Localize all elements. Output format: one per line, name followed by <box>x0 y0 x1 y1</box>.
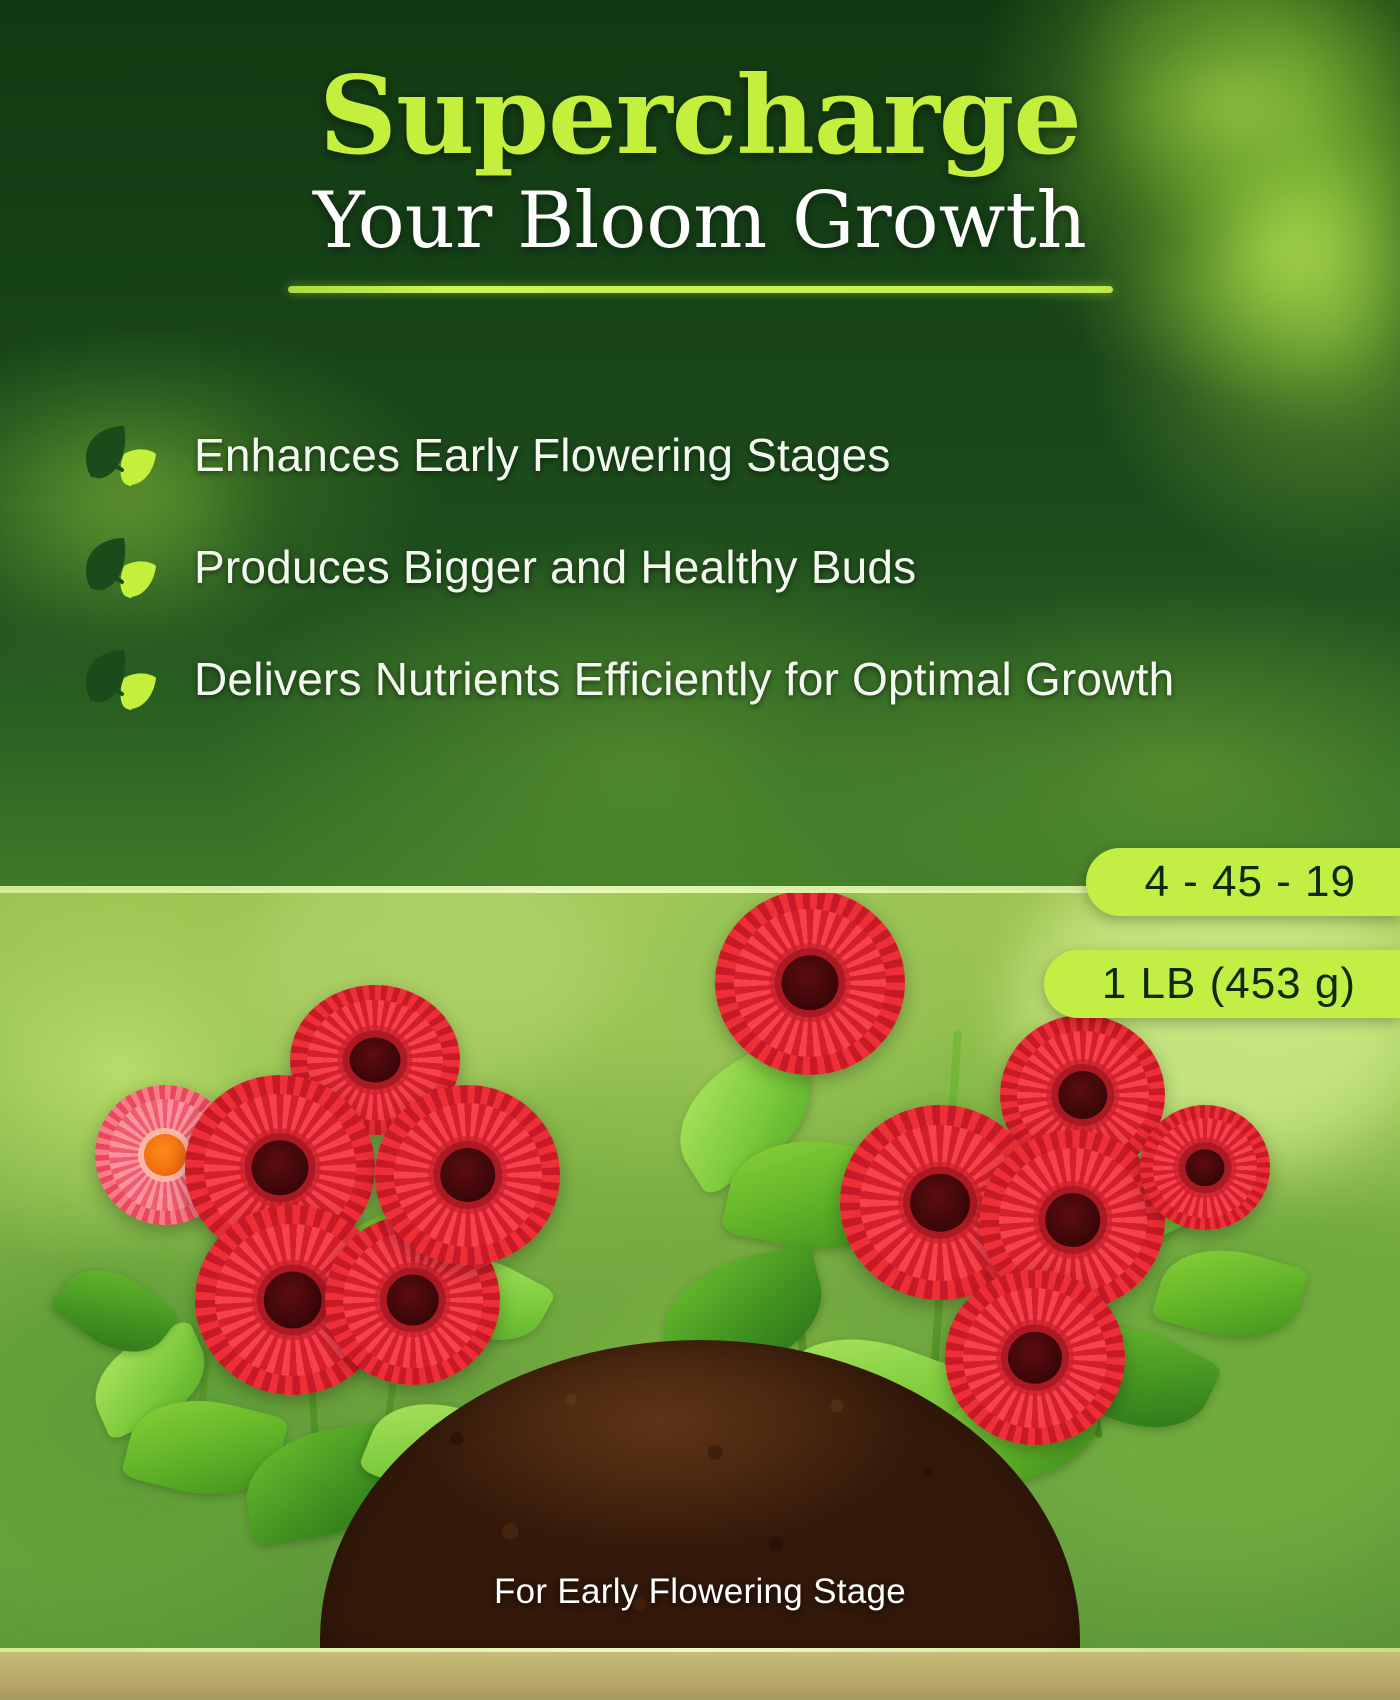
list-item: Enhances Early Flowering Stages <box>78 420 1338 490</box>
leaf-icon <box>78 532 162 602</box>
gerbera-flower <box>715 890 905 1075</box>
page-title: Supercharge <box>0 62 1400 170</box>
title-block: Supercharge Your Bloom Growth <box>0 0 1400 293</box>
net-weight-badge: 1 LB (453 g) <box>1044 950 1400 1018</box>
benefit-label: Produces Bigger and Healthy Buds <box>194 543 916 591</box>
badge-stack: 4 - 45 - 19 1 LB (453 g) <box>1044 848 1400 1018</box>
bottom-strip-highlight <box>0 1648 1400 1652</box>
gerbera-flower <box>375 1085 560 1265</box>
list-item: Produces Bigger and Healthy Buds <box>78 532 1338 602</box>
gerbera-flower <box>945 1270 1125 1445</box>
leaf-icon <box>78 420 162 490</box>
photo-caption: For Early Flowering Stage <box>0 1572 1400 1612</box>
npk-ratio-badge: 4 - 45 - 19 <box>1086 848 1400 916</box>
list-item: Delivers Nutrients Efficiently for Optim… <box>78 644 1338 714</box>
title-divider-rule <box>288 286 1113 293</box>
benefit-label: Delivers Nutrients Efficiently for Optim… <box>194 655 1174 703</box>
product-poster: Supercharge Your Bloom Growth Enhances E… <box>0 0 1400 1700</box>
benefits-list: Enhances Early Flowering Stages Produces… <box>78 420 1338 756</box>
gerbera-flower <box>1140 1105 1270 1230</box>
page-subtitle: Your Bloom Growth <box>0 182 1400 260</box>
benefit-label: Enhances Early Flowering Stages <box>194 431 891 479</box>
bottom-strip <box>0 1648 1400 1700</box>
leaf-icon <box>78 644 162 714</box>
